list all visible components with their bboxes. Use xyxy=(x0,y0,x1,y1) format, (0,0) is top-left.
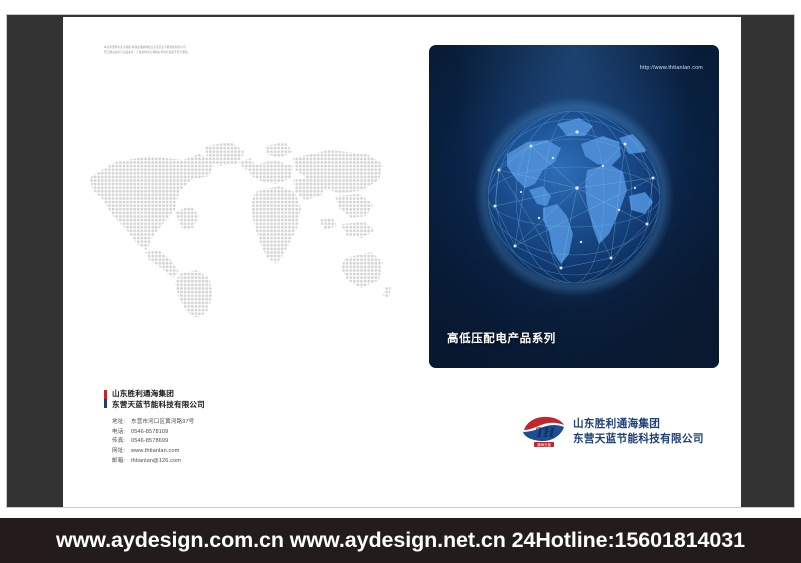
contact-value: thtianlan@126.com xyxy=(131,457,181,467)
contact-value: 0546-8578109 xyxy=(131,428,168,438)
brochure-spread: 本宣传册所有文字/图片内容最终解释权归东营天蓝节能科技有限公司 所工图示如有与实… xyxy=(63,17,741,507)
logo-group-name: 山东胜利通海集团 xyxy=(573,417,704,432)
svg-text:通海天蓝: 通海天蓝 xyxy=(537,442,551,447)
contact-row-fax: 传真: 0546-8578699 xyxy=(112,437,334,447)
back-cover-page: 本宣传册所有文字/图片内容最终解释权归东营天蓝节能科技有限公司 所工图示如有与实… xyxy=(63,17,402,507)
blue-network-globe-icon xyxy=(469,92,679,302)
legal-disclaimer-text: 本宣传册所有文字/图片内容最终解释权归东营天蓝节能科技有限公司 所工图示如有与实… xyxy=(104,46,304,55)
contact-list: 地址: 东营市河口区黄河路97号 电话: 0546-8578109 传真: 05… xyxy=(104,418,334,468)
th-monogram-logo-icon: T H 通海天蓝 xyxy=(522,415,565,449)
banner-contact-text: www.aydesign.com.cn www.aydesign.net.cn … xyxy=(56,528,745,553)
contact-label: 邮箱: xyxy=(112,457,131,467)
contact-label: 传真: xyxy=(112,437,131,447)
contact-row-phone: 电话: 0546-8578109 xyxy=(112,428,334,438)
group-name-label: 山东胜利通海集团 xyxy=(112,389,334,400)
dark-canvas-backdrop: 本宣传册所有文字/图片内容最终解释权归东营天蓝节能科技有限公司 所工图示如有与实… xyxy=(6,14,795,508)
screenshot-root: 本宣传册所有文字/图片内容最终解释权归东营天蓝节能科技有限公司 所工图示如有与实… xyxy=(0,0,801,563)
company-logo-lockup: T H 通海天蓝 山东胜利通海集团 东营天蓝节能科技有限公司 xyxy=(522,415,704,449)
contact-label: 电话: xyxy=(112,428,131,438)
contact-row-address: 地址: 东营市河口区黄河路97号 xyxy=(112,418,334,428)
cover-title: 高低压配电产品系列 xyxy=(447,330,556,346)
cover-website-url: http://www.thtianlan.com xyxy=(640,65,703,71)
logo-company-text: 山东胜利通海集团 东营天蓝节能科技有限公司 xyxy=(573,417,704,446)
dotted-world-map-icon xyxy=(79,132,391,317)
contact-label: 地址: xyxy=(112,418,131,428)
contact-value: www.thtianlan.com xyxy=(131,447,179,457)
front-cover-page: http://www.thtianlan.com xyxy=(402,17,741,507)
company-name-heading: 山东胜利通海集团 东营天蓝节能科技有限公司 xyxy=(104,389,334,411)
contact-label: 网址: xyxy=(112,447,131,457)
company-contact-block: 山东胜利通海集团 东营天蓝节能科技有限公司 地址: 东营市河口区黄河路97号 电… xyxy=(104,389,334,467)
contact-value: 0546-8578699 xyxy=(131,437,168,447)
contact-row-website: 网址: www.thtianlan.com xyxy=(112,447,334,457)
svg-text:H: H xyxy=(542,425,556,441)
contact-value: 东营市河口区黄河路97号 xyxy=(131,418,194,428)
subsidiary-name-label: 东营天蓝节能科技有限公司 xyxy=(112,400,334,411)
contact-row-email: 邮箱: thtianlan@126.com xyxy=(112,457,334,467)
cover-artwork-panel: http://www.thtianlan.com xyxy=(429,45,719,368)
bottom-watermark-banner: www.aydesign.com.cn www.aydesign.net.cn … xyxy=(0,518,801,563)
logo-subsidiary-name: 东营天蓝节能科技有限公司 xyxy=(573,432,704,447)
